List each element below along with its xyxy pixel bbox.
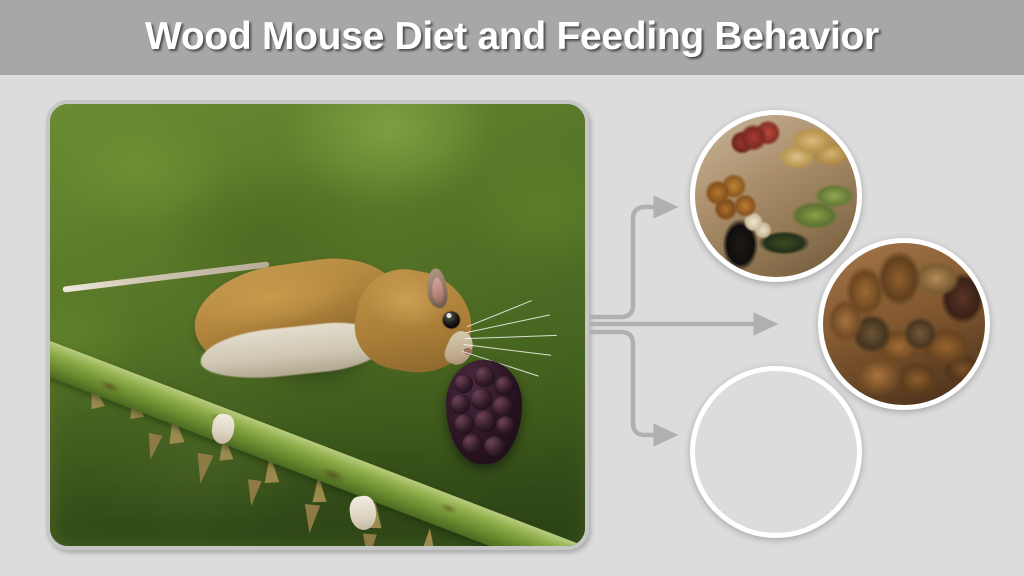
header-bar: Wood Mouse Diet and Feeding Behavior (0, 0, 1024, 75)
blackberry-drupe (462, 434, 482, 454)
blackberry-drupe (470, 388, 492, 410)
blackberry-drupe (492, 396, 513, 417)
blackberry-drupe (474, 366, 495, 387)
blackberry-drupe (454, 374, 473, 393)
wood-mouse (194, 250, 483, 383)
blackberry-drupe (450, 394, 470, 414)
slide-root: Wood Mouse Diet and Feeding Behavior (0, 0, 1024, 576)
blackberry-drupe (454, 414, 474, 434)
mouse-ear-inner (431, 277, 445, 305)
arrow-to-berries (589, 332, 665, 435)
page-title: Wood Mouse Diet and Feeding Behavior (0, 13, 1024, 61)
arrow-to-nuts-and-seeds (589, 207, 665, 317)
food-circle-berries (690, 366, 862, 538)
mouse-ear (425, 268, 449, 310)
thorn-icon (302, 504, 320, 534)
mouse-eye (441, 310, 461, 330)
blackberry-drupe (496, 416, 515, 435)
thorn-icon (421, 528, 437, 546)
blackberry-drupe (484, 436, 505, 457)
photo-inner (50, 104, 585, 546)
wood-mouse-photo (46, 100, 589, 550)
blackberry-drupe (495, 376, 514, 395)
blackberry-drupe (474, 410, 496, 432)
thorn-icon (361, 534, 377, 546)
berries-image (695, 371, 857, 533)
